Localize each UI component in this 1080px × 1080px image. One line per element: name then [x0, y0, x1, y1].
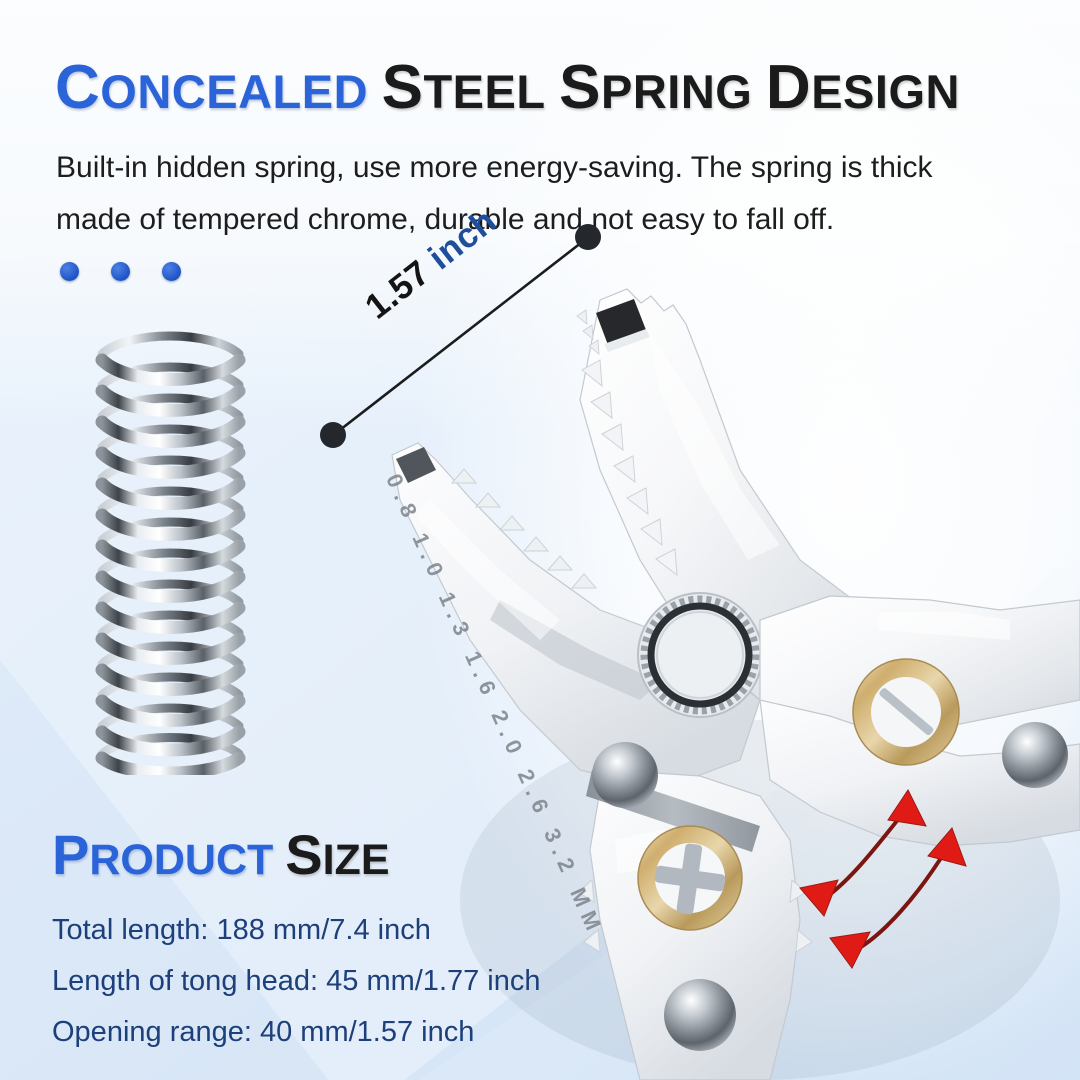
- dimension-endpoint-end: [575, 224, 601, 250]
- chrome-rivet-left: [592, 742, 658, 808]
- size-cap-s: S: [285, 823, 322, 886]
- spec-list: Total length: 188 mm/7.4 inch Length of …: [52, 905, 541, 1058]
- spec-row-total-length: Total length: 188 mm/7.4 inch: [52, 905, 541, 956]
- size-cap-p: P: [52, 823, 89, 886]
- brass-slotted-screw: [853, 659, 959, 765]
- spec-row-opening-range: Opening range: 40 mm/1.57 inch: [52, 1007, 541, 1058]
- chrome-rivet-bottom: [664, 979, 736, 1051]
- brass-phillips-screw: [638, 826, 742, 930]
- dimension-endpoint-start: [320, 422, 346, 448]
- spec-row-tong-head-length: Length of tong head: 45 mm/1.77 inch: [52, 956, 541, 1007]
- product-size-title: PRODUCT SIZE: [52, 822, 390, 887]
- opening-range-arrows: [780, 770, 990, 980]
- chrome-rivet-right: [1002, 722, 1068, 788]
- pivot-ring: [638, 593, 762, 717]
- size-word-product: RODUCT: [89, 836, 273, 884]
- infographic-canvas: CONCEALED STEEL SPRING DESIGN Built-in h…: [0, 0, 1080, 1080]
- size-word-size: IZE: [323, 836, 390, 884]
